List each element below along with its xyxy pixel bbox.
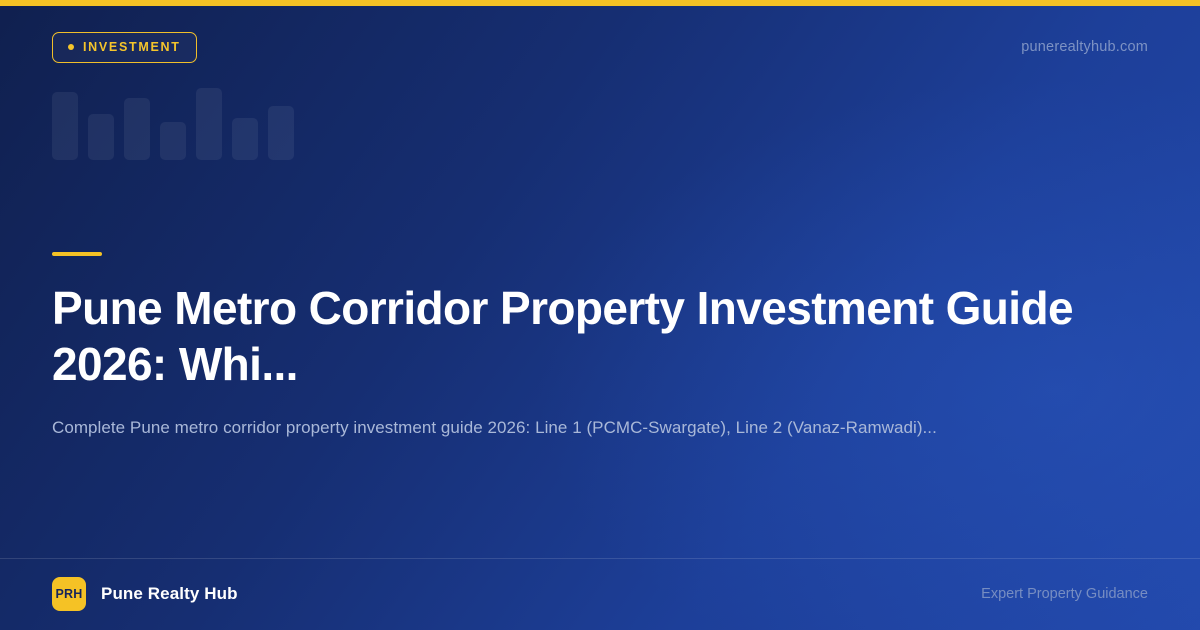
brand-block[interactable]: PRH Pune Realty Hub — [52, 577, 238, 611]
brand-name: Pune Realty Hub — [101, 584, 238, 604]
decoration-bar — [52, 92, 78, 160]
decoration-bar — [232, 118, 258, 160]
decoration-bar — [196, 88, 222, 160]
bar-chart-decoration — [52, 88, 302, 160]
decoration-bar — [268, 106, 294, 160]
category-badge[interactable]: INVESTMENT — [52, 32, 197, 63]
decoration-bar — [124, 98, 150, 160]
decoration-bar — [160, 122, 186, 160]
top-accent-bar — [0, 0, 1200, 6]
category-badge-label: INVESTMENT — [83, 41, 181, 54]
social-share-card: INVESTMENT punerealtyhub.com Pune Metro … — [0, 0, 1200, 630]
brand-logo-icon: PRH — [52, 577, 86, 611]
brand-tagline: Expert Property Guidance — [981, 586, 1148, 602]
main-content: Pune Metro Corridor Property Investment … — [52, 252, 1152, 441]
page-description: Complete Pune metro corridor property in… — [52, 416, 1122, 441]
decoration-bar — [88, 114, 114, 160]
gold-accent-rule — [52, 252, 102, 256]
card-footer: PRH Pune Realty Hub Expert Property Guid… — [52, 558, 1148, 630]
card-header: INVESTMENT punerealtyhub.com — [52, 31, 1148, 63]
site-domain: punerealtyhub.com — [1021, 39, 1148, 55]
dot-icon — [68, 44, 74, 50]
page-title: Pune Metro Corridor Property Investment … — [52, 281, 1142, 392]
